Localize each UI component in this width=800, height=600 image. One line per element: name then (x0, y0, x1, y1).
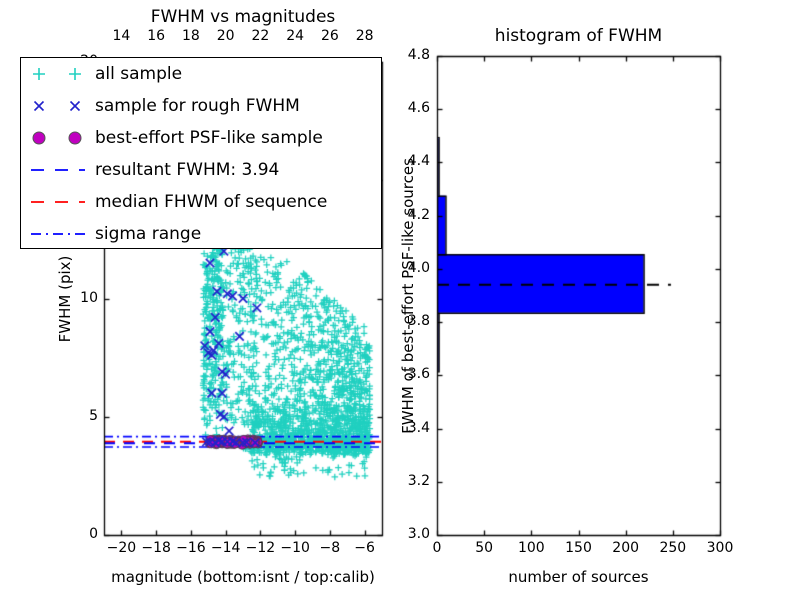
legend-item-all-sample[interactable]: all sample (21, 58, 381, 90)
legend-item-sample-for-rough-fwhm[interactable]: sample for rough FWHM (21, 90, 381, 122)
legend-label: sample for rough FWHM (95, 98, 300, 115)
plus-marker-icon (21, 58, 95, 90)
legend-box[interactable]: all sample sample for rough FWHM (20, 57, 382, 249)
blue-dashed-line-icon (21, 154, 95, 186)
legend-label: sigma range (95, 226, 201, 243)
circle-marker-icon (21, 122, 95, 154)
legend-label: resultant FWHM: 3.94 (95, 162, 279, 179)
legend-item-sigma-range[interactable]: sigma range (21, 218, 381, 250)
blue-dashdot-line-icon (21, 218, 95, 250)
legend-label: best-effort PSF-like sample (95, 130, 323, 147)
legend-item-best-effort-psf-like-sample[interactable]: best-effort PSF-like sample (21, 122, 381, 154)
cross-marker-icon (21, 90, 95, 122)
figure-canvas-root: FWHM vs magnitudes magnitude (bottom:isn… (0, 0, 800, 600)
legend-item-median-fhwm-of-sequence[interactable]: median FHWM of sequence (21, 186, 381, 218)
red-dashed-line-icon (21, 186, 95, 218)
legend-label: all sample (95, 66, 182, 83)
legend-item-resultant-fwhm[interactable]: resultant FWHM: 3.94 (21, 154, 381, 186)
legend-label: median FHWM of sequence (95, 194, 327, 211)
